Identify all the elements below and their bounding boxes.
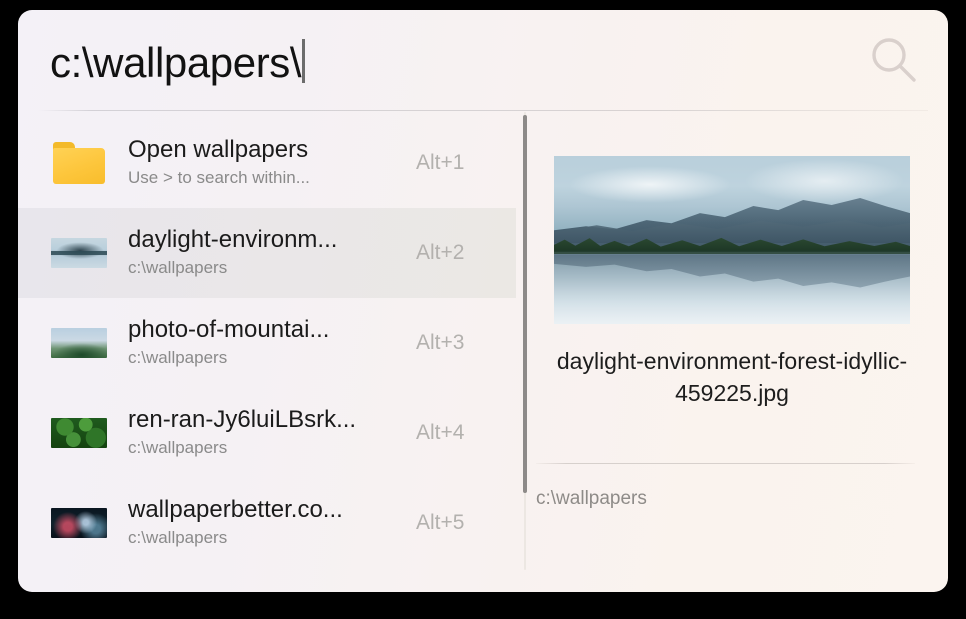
image-thumbnail-mountain <box>48 318 110 368</box>
results-list: Open wallpapers Use > to search within..… <box>18 110 516 592</box>
result-text-1: Open wallpapers Use > to search within..… <box>128 136 406 190</box>
result-text-3: photo-of-mountai... c:\wallpapers <box>128 316 406 370</box>
result-text-5: wallpaperbetter.co... c:\wallpapers <box>128 496 406 550</box>
result-title: ren-ran-Jy6luiLBsrk... <box>128 406 396 434</box>
result-row-5[interactable]: wallpaperbetter.co... c:\wallpapers Alt+… <box>18 478 516 568</box>
result-subtitle: c:\wallpapers <box>128 437 396 460</box>
result-shortcut: Alt+1 <box>406 151 516 175</box>
result-row-2[interactable]: daylight-environm... c:\wallpapers Alt+2 <box>18 208 516 298</box>
search-input[interactable]: c:\wallpapers\ <box>18 33 840 87</box>
result-row-3[interactable]: photo-of-mountai... c:\wallpapers Alt+3 <box>18 298 516 388</box>
launcher-window: c:\wallpapers\ Open wallp <box>18 10 948 592</box>
image-thumbnail-night <box>48 498 110 548</box>
preview-filename: daylight-environment-forest-idyllic-4592… <box>552 346 912 409</box>
preview-image <box>554 156 910 324</box>
result-title: daylight-environm... <box>128 226 396 254</box>
result-shortcut: Alt+2 <box>406 241 516 265</box>
preview-pane: daylight-environment-forest-idyllic-4592… <box>516 110 948 592</box>
folder-icon <box>48 138 110 188</box>
result-shortcut: Alt+5 <box>406 511 516 535</box>
result-shortcut: Alt+3 <box>406 331 516 355</box>
result-title: wallpaperbetter.co... <box>128 496 396 524</box>
result-subtitle: c:\wallpapers <box>128 527 396 550</box>
launcher-body: Open wallpapers Use > to search within..… <box>18 110 948 592</box>
result-subtitle: c:\wallpapers <box>128 347 396 370</box>
result-subtitle: Use > to search within... <box>128 167 396 190</box>
result-subtitle: c:\wallpapers <box>128 257 396 280</box>
result-row-4[interactable]: ren-ran-Jy6luiLBsrk... c:\wallpapers Alt… <box>18 388 516 478</box>
text-caret <box>302 39 305 83</box>
image-thumbnail-leaves <box>48 408 110 458</box>
result-title: Open wallpapers <box>128 136 396 164</box>
preview-path: c:\wallpapers <box>536 488 647 510</box>
image-thumbnail-lake <box>48 228 110 278</box>
result-title: photo-of-mountai... <box>128 316 396 344</box>
search-icon[interactable] <box>840 33 948 87</box>
search-input-value: c:\wallpapers\ <box>50 39 301 87</box>
preview-divider <box>536 463 915 464</box>
result-row-1[interactable]: Open wallpapers Use > to search within..… <box>18 118 516 208</box>
search-bar: c:\wallpapers\ <box>18 10 948 110</box>
result-text-4: ren-ran-Jy6luiLBsrk... c:\wallpapers <box>128 406 406 460</box>
result-shortcut: Alt+4 <box>406 421 516 445</box>
result-text-2: daylight-environm... c:\wallpapers <box>128 226 406 280</box>
